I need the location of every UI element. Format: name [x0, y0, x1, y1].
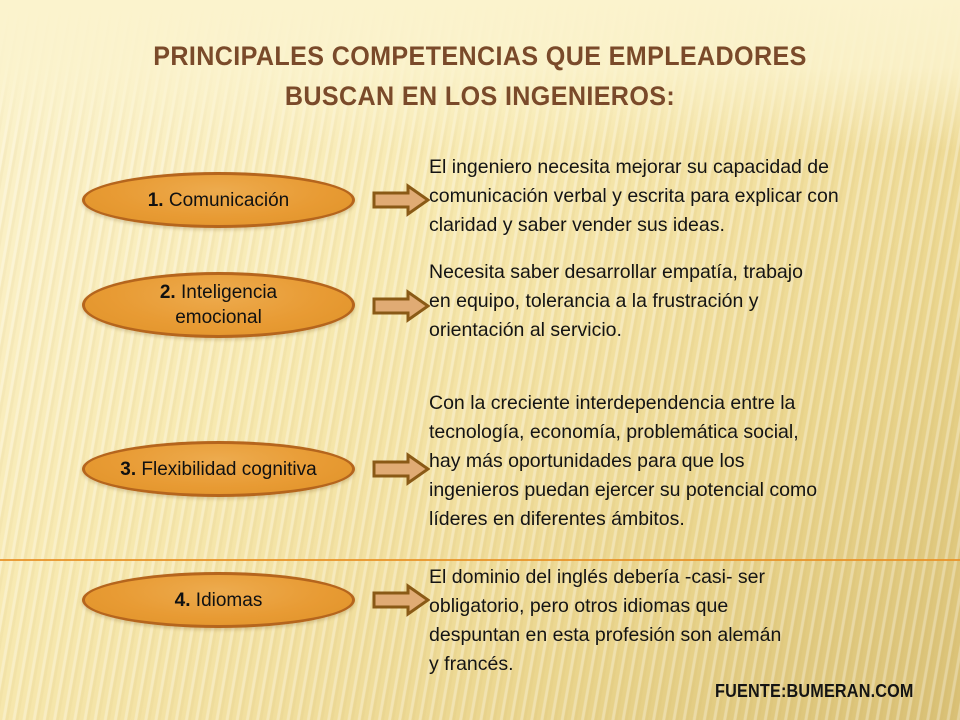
competency-ellipse-label-4: 4. Idiomas [175, 588, 263, 613]
slide-canvas: PRINCIPALES COMPETENCIAS QUE EMPLEADORES… [0, 0, 960, 720]
competency-ellipse-3[interactable]: 3. Flexibilidad cognitiva [82, 441, 355, 497]
right-arrow-icon [372, 183, 430, 217]
competency-ellipse-label-3: 3. Flexibilidad cognitiva [120, 457, 316, 482]
competency-name-3: Flexibilidad cognitiva [141, 459, 316, 480]
competency-number-2: 2. [160, 282, 176, 303]
competency-description-4: El dominio del inglés debería -casi- ser… [429, 563, 929, 679]
competency-description-3: Con la creciente interdependencia entre … [429, 389, 929, 534]
competency-ellipse-label-2: 2. Inteligencia emocional [160, 280, 277, 330]
competency-name-1: Comunicación [169, 190, 289, 211]
section-divider [0, 559, 960, 561]
source-footer: FUENTE:BUMERAN.COM [715, 681, 914, 702]
competency-ellipse-2[interactable]: 2. Inteligencia emocional [82, 272, 355, 338]
competency-number-4: 4. [175, 590, 191, 611]
competency-description-1: El ingeniero necesita mejorar su capacid… [429, 153, 929, 240]
right-arrow-icon [372, 289, 430, 323]
right-arrow-icon [372, 583, 430, 617]
competency-ellipse-1[interactable]: 1. Comunicación [82, 172, 355, 228]
competency-ellipse-4[interactable]: 4. Idiomas [82, 572, 355, 628]
competency-name-2: Inteligencia emocional [175, 282, 277, 328]
right-arrow-icon [372, 452, 430, 486]
competency-number-3: 3. [120, 459, 136, 480]
competency-name-4: Idiomas [196, 590, 263, 611]
competency-description-2: Necesita saber desarrollar empatía, trab… [429, 258, 929, 345]
competency-ellipse-label-1: 1. Comunicación [148, 188, 290, 213]
page-title: PRINCIPALES COMPETENCIAS QUE EMPLEADORES… [34, 36, 927, 116]
competency-number-1: 1. [148, 190, 164, 211]
